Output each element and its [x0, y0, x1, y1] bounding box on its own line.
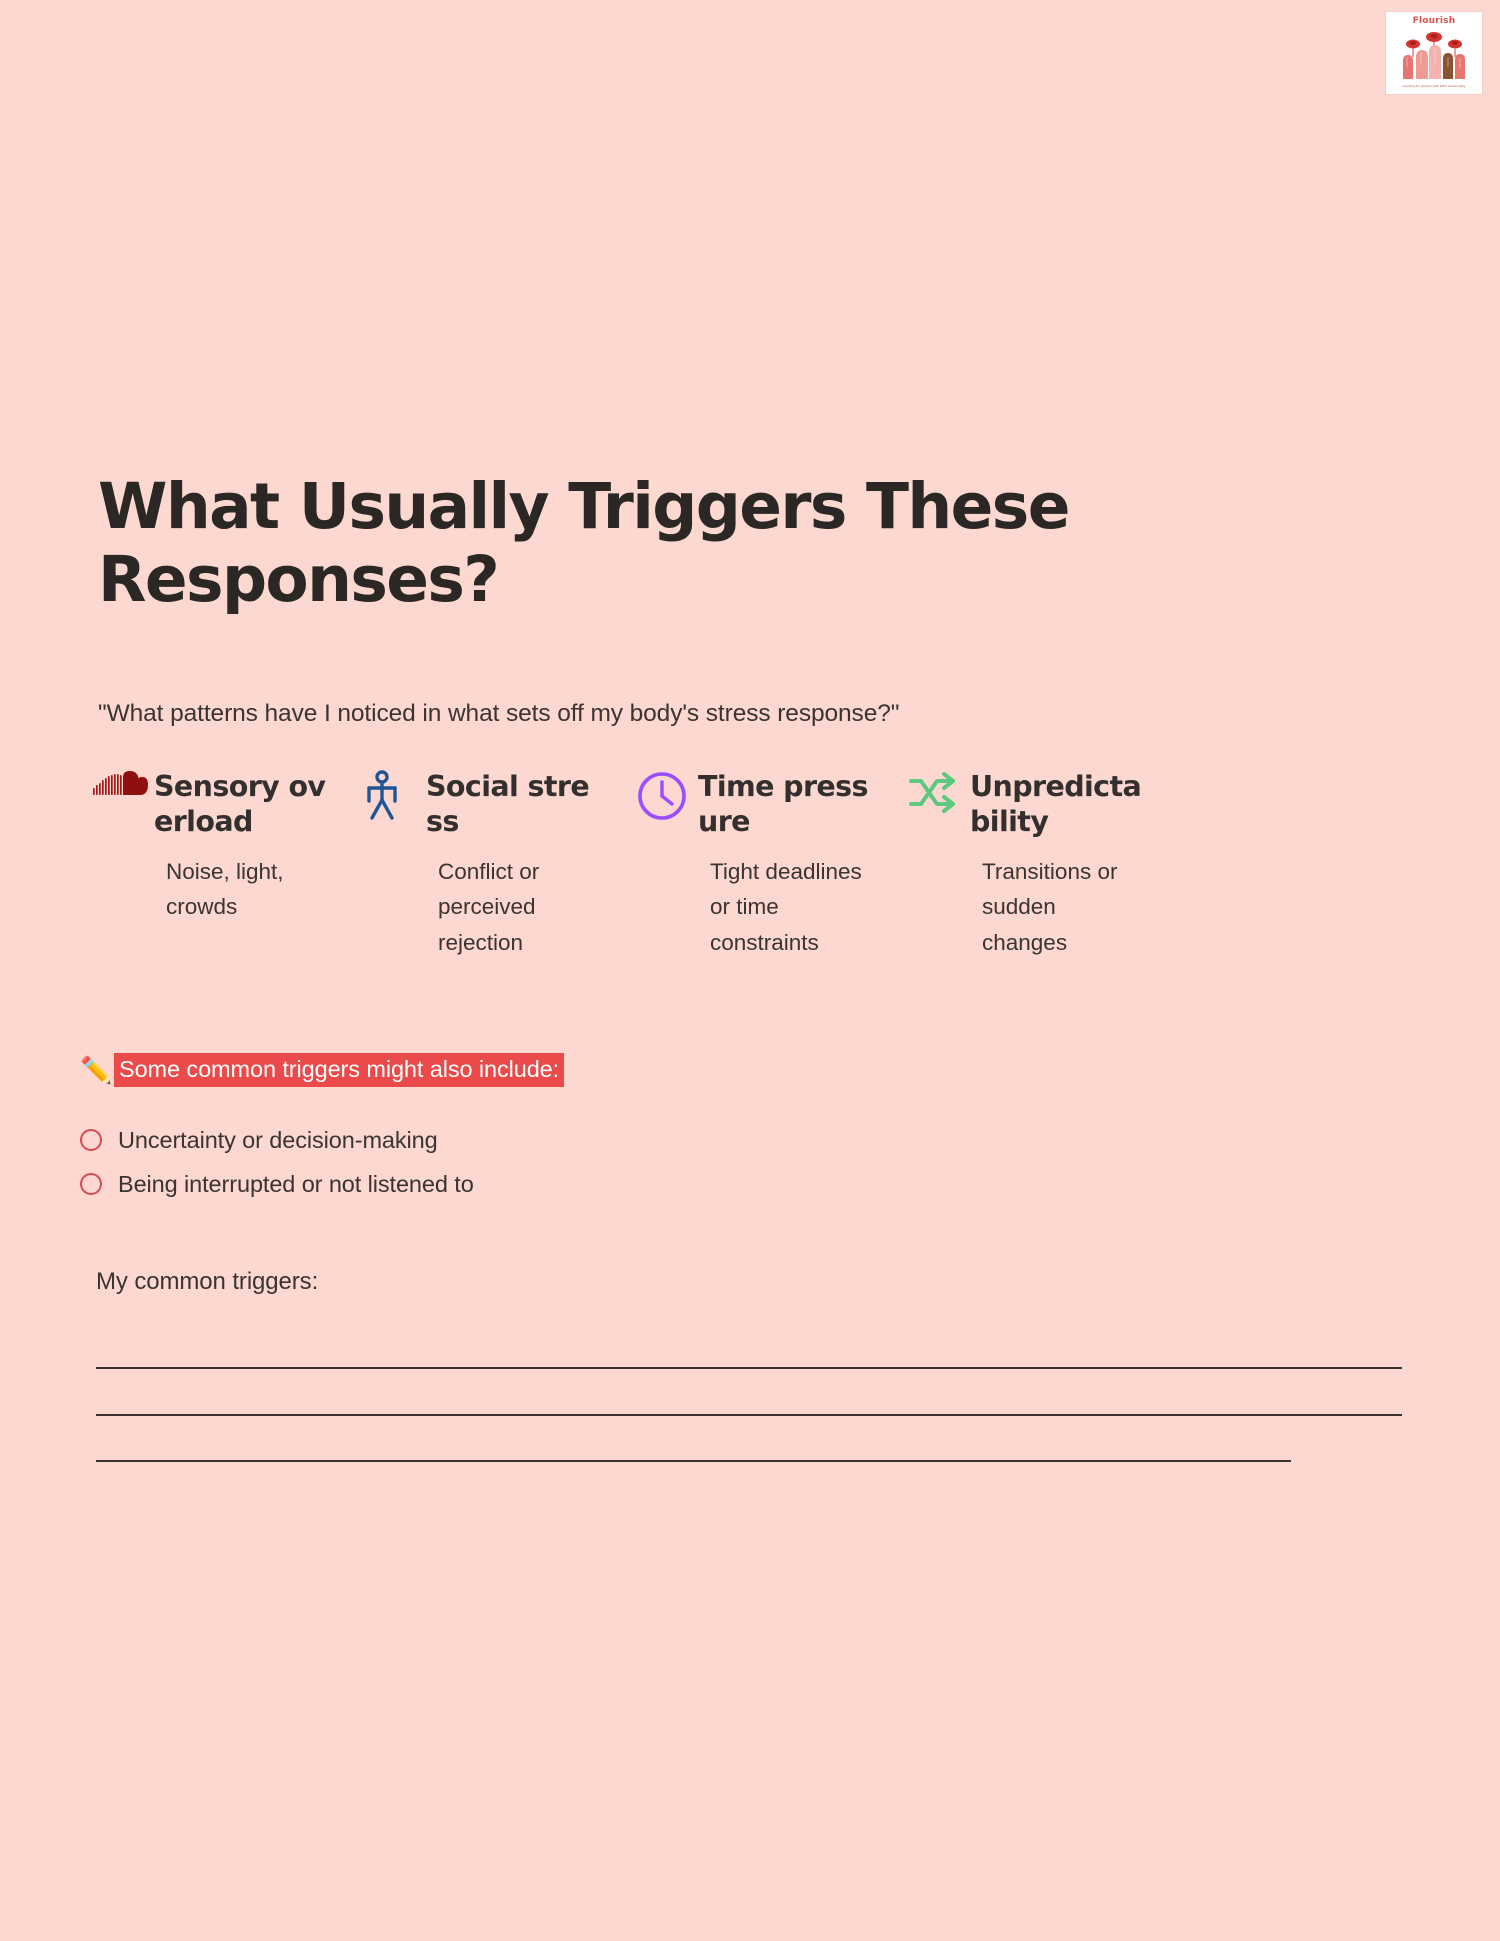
trigger-card-label: Unpredictability — [970, 768, 1145, 840]
page-title: What Usually Triggers These Responses? — [98, 470, 1358, 616]
trigger-cards: Sensory overload Noise, light, crowds — [92, 768, 1402, 960]
raised-hands-flowers-illustration — [1395, 27, 1473, 84]
checkbox-circle-icon[interactable] — [80, 1129, 102, 1151]
trigger-card-label: Time pressure — [698, 768, 873, 840]
trigger-card-description: Tight deadlines or time constraints — [710, 854, 870, 961]
trigger-checklist: Uncertainty or decision-making Being int… — [80, 1118, 474, 1206]
checklist-item-label: Uncertainty or decision-making — [118, 1127, 438, 1154]
checklist-item[interactable]: Being interrupted or not listened to — [80, 1162, 474, 1206]
writing-line[interactable] — [96, 1414, 1402, 1416]
trigger-card-description: Conflict or perceived rejection — [438, 854, 598, 961]
writing-line[interactable] — [96, 1460, 1291, 1462]
person-standing-icon — [364, 768, 426, 830]
trigger-card-label: Sensory overload — [154, 768, 329, 840]
trigger-card-time-pressure: Time pressure Tight deadlines or time co… — [636, 768, 908, 960]
trigger-card-description: Noise, light, crowds — [166, 854, 326, 925]
common-triggers-note: ✏️ Some common triggers might also inclu… — [80, 1053, 564, 1087]
trigger-card-unpredictability: Unpredictability Transitions or sudden c… — [908, 768, 1180, 960]
soundcloud-cloud-icon — [92, 768, 154, 830]
trigger-card-sensory-overload: Sensory overload Noise, light, crowds — [92, 768, 364, 960]
trigger-card-label: Social stress — [426, 768, 601, 840]
clock-icon — [636, 768, 698, 830]
trigger-card-header: Social stress — [364, 768, 636, 840]
logo-wordmark: Flourish — [1413, 17, 1456, 26]
note-highlight-text: Some common triggers might also include: — [114, 1053, 564, 1087]
pencil-icon: ✏️ — [80, 1057, 110, 1083]
trigger-card-header: Time pressure — [636, 768, 908, 840]
checkbox-circle-icon[interactable] — [80, 1173, 102, 1195]
shuffle-arrows-icon — [908, 768, 970, 830]
checklist-item[interactable]: Uncertainty or decision-making — [80, 1118, 474, 1162]
checklist-item-label: Being interrupted or not listened to — [118, 1171, 474, 1198]
trigger-card-social-stress: Social stress Conflict or perceived reje… — [364, 768, 636, 960]
trigger-card-header: Unpredictability — [908, 768, 1180, 840]
trigger-card-description: Transitions or sudden changes — [982, 854, 1142, 961]
writing-prompt-label: My common triggers: — [96, 1268, 318, 1296]
logo-tagline: coaching for women with adhd and anxiety — [1402, 85, 1466, 88]
writing-line[interactable] — [96, 1367, 1402, 1369]
flourish-logo-card: Flourish — [1386, 12, 1482, 94]
trigger-card-header: Sensory overload — [92, 768, 364, 840]
page-subtitle: "What patterns have I noticed in what se… — [98, 700, 899, 728]
